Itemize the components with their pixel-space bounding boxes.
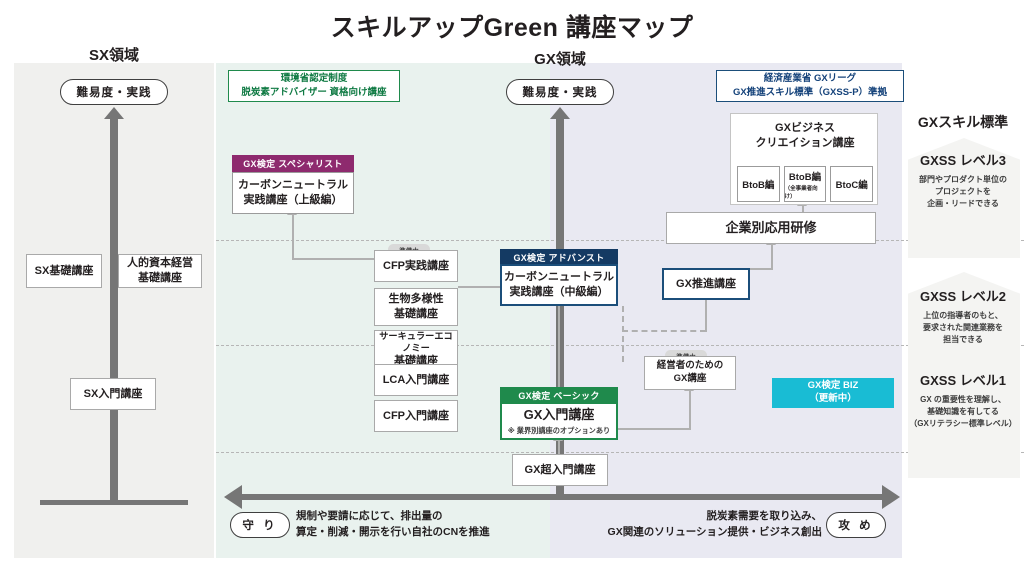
sx-difficulty-arrow <box>110 118 118 500</box>
gx-domain-header: GX領域 <box>460 48 660 69</box>
level-name: GXSS レベル2 <box>903 286 1023 305</box>
course-sx-kiso[interactable]: SX基礎講座 <box>26 254 102 288</box>
group-title: GXビジネス クリエイション講座 <box>731 121 879 151</box>
course-corporate-applied[interactable]: 企業別応用研修 <box>666 212 876 244</box>
course-option-note: ※ 業界別講座のオプションあり <box>508 426 610 436</box>
course-label: カーボンニュートラル <box>504 270 614 285</box>
skill-level-1: GXSS レベル1 GX の重要性を理解し、 基礎知識を有してる （GXリテラシ… <box>903 370 1023 430</box>
course-btoc[interactable]: BtoC編 <box>830 166 873 202</box>
connector-promotion-vertical <box>705 300 707 332</box>
level-desc-line3: 企画・リードできる <box>903 198 1023 210</box>
course-label: SX入門講座 <box>84 387 143 402</box>
connector-intro-to-exec <box>618 428 690 430</box>
course-label: GX超入門講座 <box>525 463 596 478</box>
group-gx-business-creation: GXビジネス クリエイション講座 BtoB編 BtoB編 （全事業者向け） Bt… <box>730 113 878 205</box>
course-btob-all-business[interactable]: BtoB編 （全事業者向け） <box>784 166 827 202</box>
course-label: BtoC編 <box>836 177 868 191</box>
group-title-line1: GXビジネス <box>731 121 879 136</box>
level-description: GX の重要性を理解し、 基礎知識を有してる （GXリテラシー標準レベル） <box>903 394 1023 430</box>
level-desc-line2: 要求された関連業務を <box>903 322 1023 334</box>
course-biodiversity[interactable]: 生物多様性 基礎講座 <box>374 288 458 326</box>
defense-caption-line2: 算定・削減・開示を行い自社のCNを推進 <box>296 524 596 540</box>
course-label: LCA入門講座 <box>383 373 450 388</box>
level-desc-line1: 部門やプロダクト単位の <box>903 174 1023 186</box>
direction-axis-bar <box>240 494 884 500</box>
defense-pill: 守 り <box>230 512 290 538</box>
env-callout-line1: 環境省認定制度 <box>281 72 348 86</box>
course-sub-label: （全事業者向け） <box>785 184 826 200</box>
connector-advanced-to-promotion <box>622 330 706 332</box>
connector-intro-to-advanced <box>558 306 560 388</box>
course-label-2: 実践講座（上級編） <box>244 193 343 208</box>
level-description: 上位の指導者のもと、 要求された関連業務を 担当できる <box>903 310 1023 346</box>
course-cfp-practice[interactable]: CFP実践講座 <box>374 250 458 282</box>
course-label-2: 基礎講座 <box>394 307 438 322</box>
level-name: GXSS レベル3 <box>903 150 1023 169</box>
connector-advanced-dashed <box>622 306 624 362</box>
course-label: カーボンニュートラル <box>238 178 348 193</box>
course-label: 企業別応用研修 <box>725 219 816 236</box>
course-label: BtoB編 <box>742 177 774 191</box>
course-label: GX推進講座 <box>676 277 736 292</box>
course-cn-intermediate[interactable]: カーボンニュートラル 実践講座（中級編） <box>500 264 618 306</box>
direction-arrow-right <box>882 485 900 509</box>
course-label: 生物多様性 <box>389 292 444 307</box>
level-description: 部門やプロダクト単位の プロジェクトを 企画・リードできる <box>903 174 1023 210</box>
level1-divider <box>216 452 1024 453</box>
course-circular-economy[interactable]: サーキュラーエコノミー 基礎講座 <box>374 330 458 368</box>
offense-caption-line2: GX関連のソリューション提供・ビジネス創出 <box>560 524 822 540</box>
connector-specialist-horizontal <box>292 258 374 260</box>
level-desc-line1: GX の重要性を理解し、 <box>903 394 1023 406</box>
level-desc-line2: プロジェクトを <box>903 186 1023 198</box>
badge-gx-kentei-biz[interactable]: GX検定 BIZ （更新中） <box>772 378 894 408</box>
connector-list-to-advanced <box>458 286 500 288</box>
meti-callout-line2: GX推進スキル標準（GXSS-P）準拠 <box>733 86 887 100</box>
course-label: BtoB編 <box>789 169 821 183</box>
offense-pill: 攻 め <box>826 512 886 538</box>
gx-axis-pill: 難易度・実践 <box>506 79 614 105</box>
badge-line1: GX検定 BIZ <box>808 380 859 393</box>
course-map-canvas: スキルアップGreen 講座マップ SX領域 GX領域 難易度・実践 難易度・実… <box>0 0 1024 575</box>
course-lca-intro[interactable]: LCA入門講座 <box>374 364 458 396</box>
level-desc-line2: 基礎知識を有してる <box>903 406 1023 418</box>
direction-arrow-left <box>224 485 242 509</box>
meti-gx-league-callout: 経済産業省 GXリーグ GX推進スキル標準（GXSS-P）準拠 <box>716 70 904 102</box>
env-callout-line2: 脱炭素アドバイザー 資格向け講座 <box>241 86 386 100</box>
course-label-2: GX講座 <box>674 373 707 386</box>
connector-specialist-vertical <box>292 214 294 260</box>
sx-axis-base <box>40 500 188 505</box>
page-title: スキルアップGreen 講座マップ <box>0 8 1024 44</box>
offense-caption: 脱炭素需要を取り込み、 GX関連のソリューション提供・ビジネス創出 <box>560 508 822 541</box>
course-gx-promotion[interactable]: GX推進講座 <box>662 268 750 300</box>
course-label: GX入門講座 <box>524 406 595 423</box>
course-label: 人的資本経営 <box>127 256 193 271</box>
course-cn-advanced[interactable]: カーボンニュートラル 実践講座（上級編） <box>232 172 354 214</box>
course-label: サーキュラーエコノミー <box>375 330 457 354</box>
course-label-2: 実践講座（中級編） <box>510 285 609 300</box>
course-cfp-intro[interactable]: CFP入門講座 <box>374 400 458 432</box>
skill-level-2: GXSS レベル2 上位の指導者のもと、 要求された関連業務を 担当できる <box>903 286 1023 346</box>
skill-level-3: GXSS レベル3 部門やプロダクト単位の プロジェクトを 企画・リードできる <box>903 150 1023 210</box>
course-label: CFP実践講座 <box>383 259 449 274</box>
connector-applied-vertical <box>771 244 773 270</box>
level-desc-line1: 上位の指導者のもと、 <box>903 310 1023 322</box>
offense-caption-line1: 脱炭素需要を取り込み、 <box>560 508 822 524</box>
group-items-row: BtoB編 BtoB編 （全事業者向け） BtoC編 <box>737 166 873 202</box>
meti-callout-line1: 経済産業省 GXリーグ <box>764 72 856 86</box>
level-desc-line3: （GXリテラシー標準レベル） <box>903 418 1023 430</box>
badge-gx-specialist: GX検定 スペシャリスト <box>232 155 354 172</box>
level3-divider <box>216 240 1024 241</box>
course-btob[interactable]: BtoB編 <box>737 166 780 202</box>
level-desc-line3: 担当できる <box>903 334 1023 346</box>
sx-axis-pill: 難易度・実践 <box>60 79 168 105</box>
badge-line2: （更新中） <box>809 393 857 406</box>
course-sx-intro[interactable]: SX入門講座 <box>70 378 156 410</box>
course-label: 経営者のための <box>657 360 724 373</box>
course-gx-super-intro[interactable]: GX超入門講座 <box>512 454 608 486</box>
level-name: GXSS レベル1 <box>903 370 1023 389</box>
course-label-2: 基礎講座 <box>138 271 182 286</box>
env-ministry-callout: 環境省認定制度 脱炭素アドバイザー 資格向け講座 <box>228 70 400 102</box>
skill-standard-title: GXスキル標準 <box>904 112 1022 132</box>
course-human-capital[interactable]: 人的資本経営 基礎講座 <box>118 254 202 288</box>
course-gx-intro[interactable]: GX入門講座 ※ 業界別講座のオプションあり <box>500 402 618 440</box>
group-title-line2: クリエイション講座 <box>731 136 879 151</box>
course-label: CFP入門講座 <box>383 409 449 424</box>
sx-domain-header: SX領域 <box>24 44 204 65</box>
defense-caption-line1: 規制や要請に応じて、排出量の <box>296 508 596 524</box>
defense-caption: 規制や要請に応じて、排出量の 算定・削減・開示を行い自社のCNを推進 <box>296 508 596 541</box>
connector-exec-vertical <box>689 390 691 430</box>
course-exec-gx[interactable]: 経営者のための GX講座 <box>644 356 736 390</box>
course-label: SX基礎講座 <box>35 264 94 279</box>
